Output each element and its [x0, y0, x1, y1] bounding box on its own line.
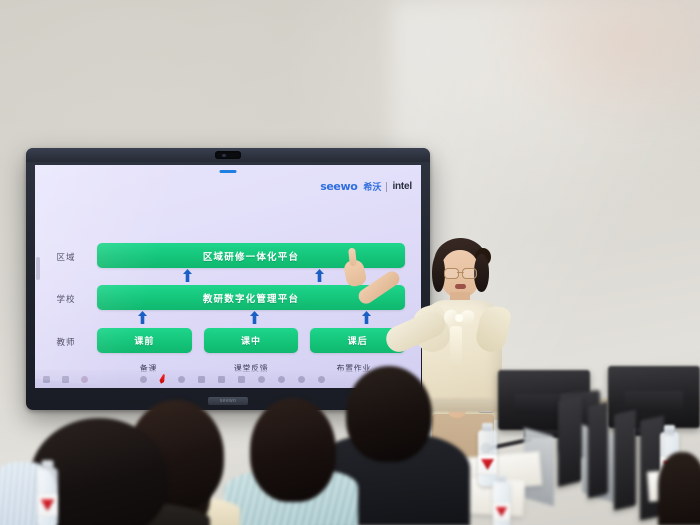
seewo-logo: seewo	[320, 180, 357, 193]
platform-diagram: 区域 学校 教师 区域研修一体化平台 教研数字化管理平台	[35, 211, 421, 364]
redo-icon[interactable]	[278, 376, 285, 383]
water-bottle-4	[493, 481, 510, 525]
camera-icon	[215, 151, 241, 159]
attendee-center-right-head	[346, 366, 432, 462]
bow-knot	[455, 314, 463, 322]
glasses-lens-right	[462, 268, 477, 279]
presenter-mouth	[455, 284, 466, 289]
text-icon[interactable]	[218, 376, 225, 383]
display-top-bezel	[26, 148, 430, 162]
bottle-label	[478, 454, 497, 475]
classroom-scene: seewo seewo 希沃 intel 区域 学校 教师 区域研修一体化平	[0, 0, 700, 525]
more-icon[interactable]	[318, 376, 325, 383]
laptop-3	[614, 409, 636, 510]
monitor-mount-plate	[625, 391, 684, 412]
glasses-lens-left	[444, 268, 459, 279]
laptop-1	[558, 395, 582, 487]
row-label-teacher: 教师	[49, 336, 83, 348]
minus-icon[interactable]	[238, 376, 245, 383]
window-icon[interactable]	[62, 376, 69, 383]
intel-logo: intel	[392, 181, 412, 192]
laptop-2	[588, 402, 608, 499]
arrow-up-icon	[250, 311, 259, 324]
box-during-class: 课中	[204, 328, 299, 353]
bottle-cap	[42, 460, 54, 469]
bow-ribbon-tail	[450, 326, 462, 368]
undo-icon[interactable]	[258, 376, 265, 383]
seewo-logo-cn: 希沃	[363, 180, 381, 193]
user-icon[interactable]	[81, 376, 88, 383]
wall-warm-reflection	[476, 0, 700, 137]
apps-icon[interactable]	[43, 376, 50, 383]
bottle-label	[493, 502, 510, 521]
clear-icon[interactable]	[298, 376, 305, 383]
bottle-cap	[497, 475, 507, 482]
row-label-school: 学校	[49, 293, 83, 305]
select-icon[interactable]	[140, 376, 147, 383]
attendee-right-head	[250, 398, 336, 502]
teacher-stage-boxes: 课前 课中 课后	[97, 328, 405, 353]
bottle-label	[37, 494, 58, 517]
arrow-up-icon	[362, 311, 371, 324]
bottle-cap	[664, 425, 675, 433]
arrow-up-icon	[183, 269, 192, 282]
toolbar-left-group[interactable]	[35, 376, 88, 383]
brand-separator	[386, 182, 387, 192]
arrow-up-icon	[138, 311, 147, 324]
shape-icon[interactable]	[198, 376, 205, 383]
display-brand-logo: seewo	[208, 397, 248, 405]
slide-brand-row: seewo 希沃 intel	[320, 180, 412, 193]
eraser-icon[interactable]	[178, 376, 185, 383]
pen-icon[interactable]	[159, 373, 167, 384]
toolbar-tools-group[interactable]	[140, 374, 325, 384]
arrow-up-icon	[315, 269, 324, 282]
water-bottle-1	[478, 430, 497, 486]
row-label-region: 区域	[49, 251, 83, 263]
attendee-far-right-head	[658, 452, 700, 525]
glasses-icon	[444, 268, 477, 277]
box-before-class: 课前	[97, 328, 192, 353]
water-bottle-3	[37, 468, 58, 525]
slide-top-indicator	[220, 170, 237, 173]
bottle-cap	[482, 423, 493, 431]
